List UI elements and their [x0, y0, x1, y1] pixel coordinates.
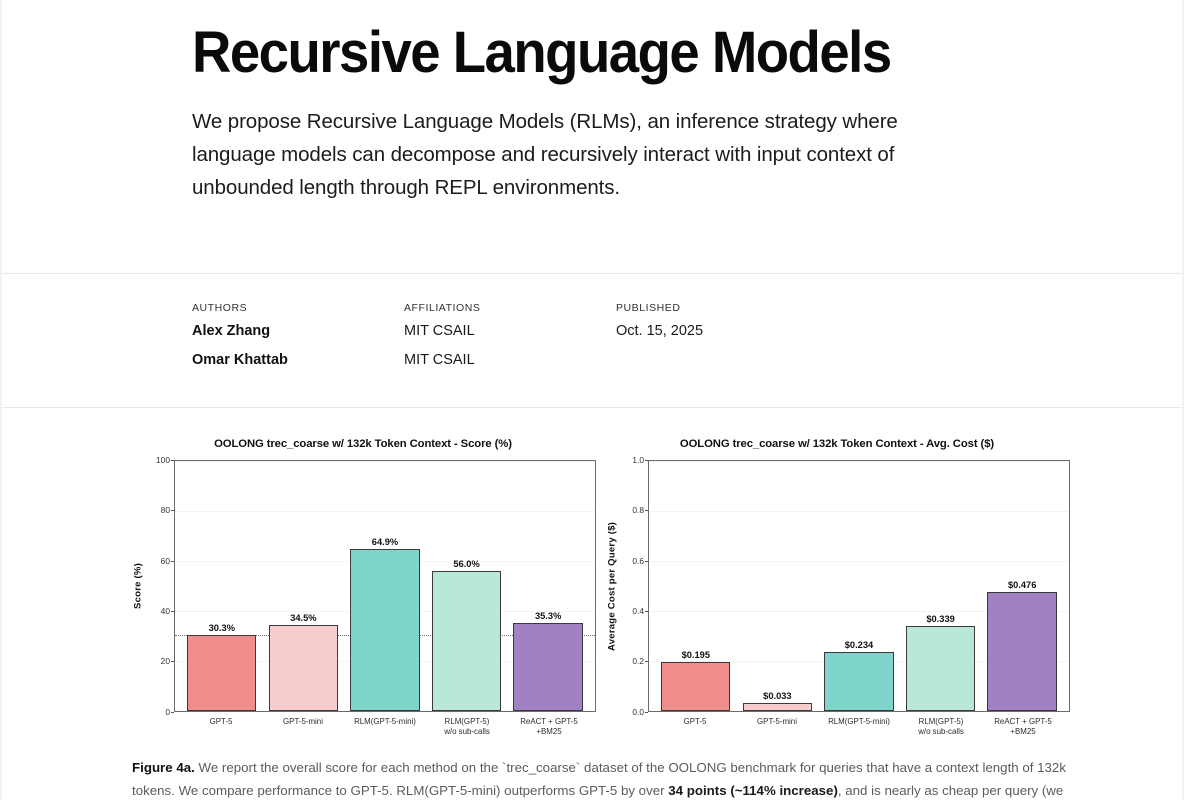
- plot-area: 30.3%34.5%64.9%56.0%35.3%: [174, 460, 596, 712]
- figure-caption: Figure 4a. We report the overall score f…: [132, 756, 1067, 800]
- bar-slot: $0.339: [906, 461, 975, 711]
- y-axis-ticks: 020406080100: [146, 460, 174, 712]
- bar-slot: 30.3%: [187, 461, 256, 711]
- bar-value-label: 35.3%: [535, 611, 561, 621]
- bar: $0.033: [743, 703, 812, 711]
- y-axis-label: Average Cost per Query ($): [604, 460, 620, 712]
- charts-row: OOLONG trec_coarse w/ 132k Token Context…: [130, 438, 1070, 738]
- x-tick-label: GPT-5-mini: [742, 717, 812, 738]
- y-tick-label: 0.4: [632, 606, 644, 616]
- y-tick-label: 0.6: [632, 556, 644, 566]
- hero-section: Recursive Language Models We propose Rec…: [2, 0, 1182, 273]
- chart-title: OOLONG trec_coarse w/ 132k Token Context…: [604, 438, 1070, 450]
- affiliations-column: AFFILIATIONS MIT CSAIL MIT CSAIL: [404, 302, 616, 381]
- x-tick-label: RLM(GPT-5-mini): [824, 717, 894, 738]
- x-tick-label: RLM(GPT-5) w/o sub-calls: [432, 717, 502, 738]
- plot-area: $0.195$0.033$0.234$0.339$0.476: [648, 460, 1070, 712]
- bar: $0.234: [824, 652, 893, 711]
- bar-value-label: $0.234: [845, 640, 873, 650]
- bar-slot: 35.3%: [513, 461, 582, 711]
- bars-group: 30.3%34.5%64.9%56.0%35.3%: [175, 461, 595, 711]
- bar: 56.0%: [432, 571, 501, 711]
- page-title: Recursive Language Models: [192, 22, 1076, 85]
- x-tick-label: GPT-5-mini: [268, 717, 338, 738]
- published-label: PUBLISHED: [616, 302, 703, 314]
- x-tick-label: GPT-5: [660, 717, 730, 738]
- y-axis-label: Score (%): [130, 460, 146, 712]
- x-tick-label: GPT-5: [186, 717, 256, 738]
- bar-value-label: 30.3%: [209, 623, 235, 633]
- bar: 64.9%: [350, 549, 419, 711]
- bar: $0.476: [987, 592, 1056, 711]
- metadata-section: AUTHORS Alex Zhang Omar Khattab AFFILIAT…: [192, 274, 1182, 407]
- page-root: Recursive Language Models We propose Rec…: [2, 0, 1182, 800]
- chart-title: OOLONG trec_coarse w/ 132k Token Context…: [130, 438, 596, 450]
- y-tick-label: 60: [161, 556, 170, 566]
- bar: 35.3%: [513, 623, 582, 711]
- y-tick-label: 0.2: [632, 656, 644, 666]
- y-tick-label: 20: [161, 656, 170, 666]
- figure-label: Figure 4a.: [132, 760, 195, 775]
- authors-label: AUTHORS: [192, 302, 404, 314]
- bar-value-label: 56.0%: [453, 559, 479, 569]
- y-tick-label: 0.0: [632, 707, 644, 717]
- affiliation-name: MIT CSAIL: [404, 351, 616, 371]
- bar: $0.339: [906, 626, 975, 711]
- bar-slot: $0.476: [987, 461, 1056, 711]
- bar-slot: 34.5%: [269, 461, 338, 711]
- x-tick-label: ReACT + GPT-5 +BM25: [988, 717, 1058, 738]
- author-name: Omar Khattab: [192, 351, 404, 371]
- y-axis-ticks: 0.00.20.40.60.81.0: [620, 460, 648, 712]
- bar-slot: $0.033: [743, 461, 812, 711]
- bar-value-label: $0.339: [926, 614, 954, 624]
- x-axis-ticks: GPT-5GPT-5-miniRLM(GPT-5-mini)RLM(GPT-5)…: [648, 712, 1070, 738]
- bar-slot: 56.0%: [432, 461, 501, 711]
- figure-section: OOLONG trec_coarse w/ 132k Token Context…: [2, 408, 1182, 800]
- bar-slot: $0.234: [824, 461, 893, 711]
- y-tick-label: 80: [161, 505, 170, 515]
- y-tick-label: 0: [165, 707, 170, 717]
- affiliation-name: MIT CSAIL: [404, 322, 616, 342]
- affiliations-label: AFFILIATIONS: [404, 302, 616, 314]
- x-tick-label: RLM(GPT-5-mini): [350, 717, 420, 738]
- bar-value-label: $0.195: [682, 650, 710, 660]
- bar-value-label: $0.033: [763, 691, 791, 701]
- page-subtitle: We propose Recursive Language Models (RL…: [192, 105, 962, 204]
- bar-slot: 64.9%: [350, 461, 419, 711]
- published-date: Oct. 15, 2025: [616, 322, 703, 342]
- bar-value-label: 64.9%: [372, 537, 398, 547]
- y-tick-label: 100: [156, 455, 170, 465]
- author-name: Alex Zhang: [192, 322, 404, 342]
- authors-column: AUTHORS Alex Zhang Omar Khattab: [192, 302, 404, 381]
- bar-value-label: 34.5%: [290, 613, 316, 623]
- x-tick-label: ReACT + GPT-5 +BM25: [514, 717, 584, 738]
- x-tick-label: RLM(GPT-5) w/o sub-calls: [906, 717, 976, 738]
- bar: 34.5%: [269, 625, 338, 711]
- chart-score: OOLONG trec_coarse w/ 132k Token Context…: [130, 438, 596, 738]
- y-tick-label: 40: [161, 606, 170, 616]
- caption-highlight: 34 points (~114% increase): [668, 783, 838, 798]
- bars-group: $0.195$0.033$0.234$0.339$0.476: [649, 461, 1069, 711]
- y-tick-label: 0.8: [632, 505, 644, 515]
- chart-cost: OOLONG trec_coarse w/ 132k Token Context…: [604, 438, 1070, 738]
- x-axis-ticks: GPT-5GPT-5-miniRLM(GPT-5-mini)RLM(GPT-5)…: [174, 712, 596, 738]
- y-tick-label: 1.0: [632, 455, 644, 465]
- bar: 30.3%: [187, 635, 256, 711]
- published-column: PUBLISHED Oct. 15, 2025: [616, 302, 703, 381]
- bar-slot: $0.195: [661, 461, 730, 711]
- bar: $0.195: [661, 662, 730, 711]
- bar-value-label: $0.476: [1008, 580, 1036, 590]
